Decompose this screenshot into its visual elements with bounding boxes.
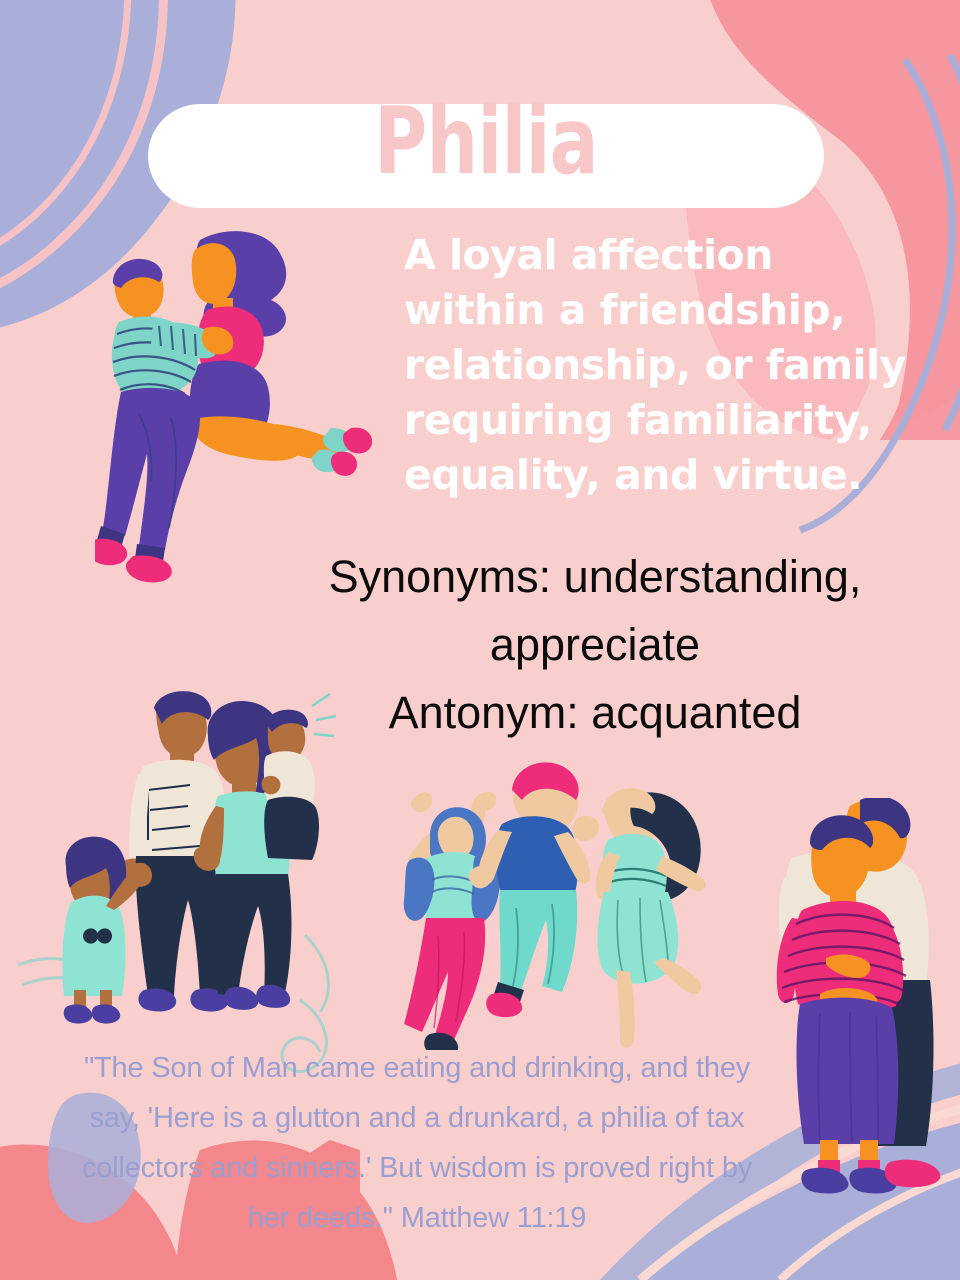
dancer2-pants — [499, 890, 577, 994]
daughter-hand — [128, 863, 152, 887]
synonyms-line-continued: appreciate — [245, 611, 945, 679]
scripture-quote: "The Son of Man came eating and drinking… — [22, 1043, 812, 1243]
definition-line: within a friendship, — [404, 283, 940, 338]
quote-line-citation: her deeds." Matthew 11:19 — [22, 1193, 812, 1243]
man-shoe-1 — [126, 556, 172, 583]
definition-line: equality, and virtue. — [404, 448, 940, 503]
dancer1-pants — [404, 918, 485, 1044]
dancer1-hand-left — [411, 792, 433, 812]
definition-line: relationship, or family — [404, 338, 940, 393]
philia-poster: Philia A loyal affection within a friend… — [0, 0, 960, 1280]
page-title: Philia — [222, 86, 749, 196]
quote-line: collectors and sinners.' But wisdom is p… — [22, 1143, 812, 1193]
baby-pants — [264, 797, 319, 860]
dancing-trio-illustration — [390, 760, 720, 1050]
dancer2-hand-right — [572, 816, 599, 841]
mother-shoe-1 — [224, 987, 258, 1010]
antonym-line: Antonym: acquanted — [245, 679, 945, 747]
quote-line: say, 'Here is a glutton and a drunkard, … — [22, 1093, 812, 1143]
daughter-shoe-2 — [92, 1004, 120, 1023]
couple-lifting-svg — [95, 228, 395, 618]
woman-shoe-2 — [331, 452, 357, 476]
definition-line: A loyal affection — [404, 228, 940, 283]
definition-text: A loyal affection within a friendship, r… — [404, 228, 940, 503]
definition-line: requiring familiarity, — [404, 393, 940, 448]
dancer1-hand-right — [475, 792, 497, 811]
quote-line: "The Son of Man came eating and drinking… — [22, 1043, 812, 1093]
family-of-four-illustration — [18, 690, 348, 1040]
daughter-dress — [62, 896, 125, 996]
couple-lifting-illustration — [95, 228, 395, 618]
baby-sparkle-lines — [312, 694, 336, 736]
family-svg — [18, 690, 348, 1040]
mother-pants — [214, 874, 292, 998]
dancers-svg — [390, 760, 720, 1050]
man-hug-shoe — [885, 1160, 941, 1188]
daughter-shoe-1 — [64, 1004, 92, 1023]
